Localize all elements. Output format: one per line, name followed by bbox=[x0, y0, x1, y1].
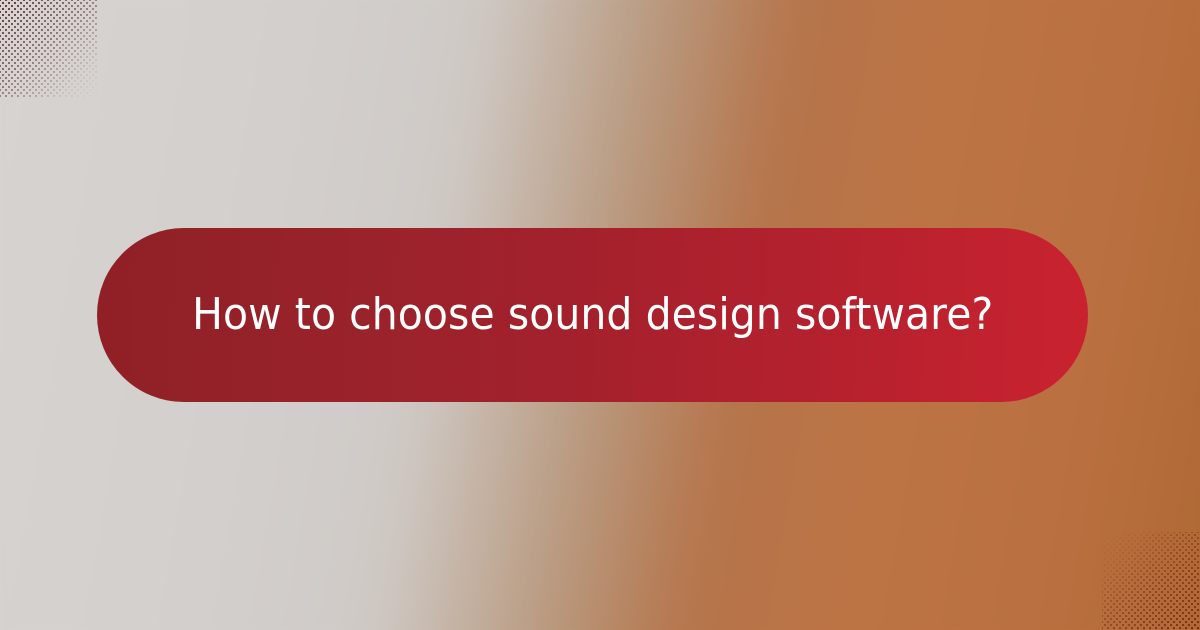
page-title: How to choose sound design software? bbox=[192, 291, 993, 339]
title-banner: How to choose sound design software? bbox=[97, 228, 1088, 402]
hero-card: How to choose sound design software? bbox=[0, 0, 1200, 630]
